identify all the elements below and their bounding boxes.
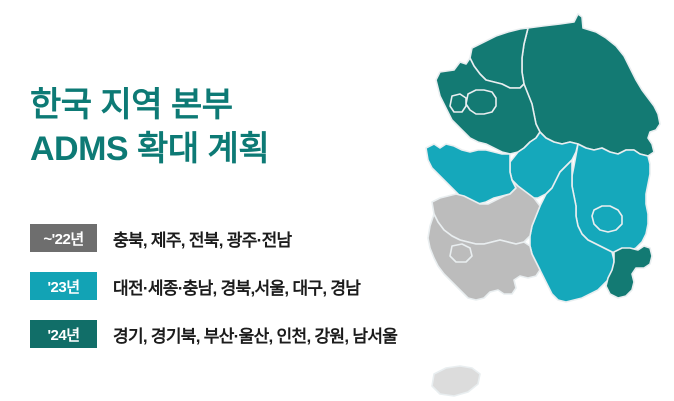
map-region-gwangju-inset [450, 244, 472, 262]
map-svg [410, 2, 674, 401]
map-region-seoul [466, 90, 496, 114]
title-line-1: 한국 지역 본부 [30, 83, 269, 127]
page-title: 한국 지역 본부 ADMS 확대 계획 [30, 83, 269, 171]
map-region-jeju [432, 366, 480, 396]
infographic-page: 한국 지역 본부 ADMS 확대 계획 ~'22년 충북, 제주, 전북, 광주… [0, 0, 674, 401]
title-line-2: ADMS 확대 계획 [30, 127, 269, 171]
legend-label-2024: 경기, 경기북, 부산·울산, 인천, 강원, 남서울 [113, 322, 397, 347]
legend-label-2023: 대전·세종·충남, 경북,서울, 대구, 경남 [113, 274, 360, 299]
legend-row-2024: '24년 경기, 경기북, 부산·울산, 인천, 강원, 남서울 [30, 320, 397, 348]
legend-badge-2022: ~'22년 [30, 224, 97, 252]
legend-badge-2024: '24년 [30, 320, 97, 348]
legend-badge-2023: '23년 [30, 272, 97, 300]
legend-label-2022: 충북, 제주, 전북, 광주·전남 [113, 226, 292, 251]
legend: ~'22년 충북, 제주, 전북, 광주·전남 '23년 대전·세종·충남, 경… [30, 224, 397, 348]
legend-row-2022: ~'22년 충북, 제주, 전북, 광주·전남 [30, 224, 397, 252]
legend-row-2023: '23년 대전·세종·충남, 경북,서울, 대구, 경남 [30, 272, 397, 300]
south-korea-map [410, 2, 674, 401]
map-region-daejeon-sejong-chungnam [426, 144, 516, 204]
map-region-incheon [450, 94, 466, 112]
